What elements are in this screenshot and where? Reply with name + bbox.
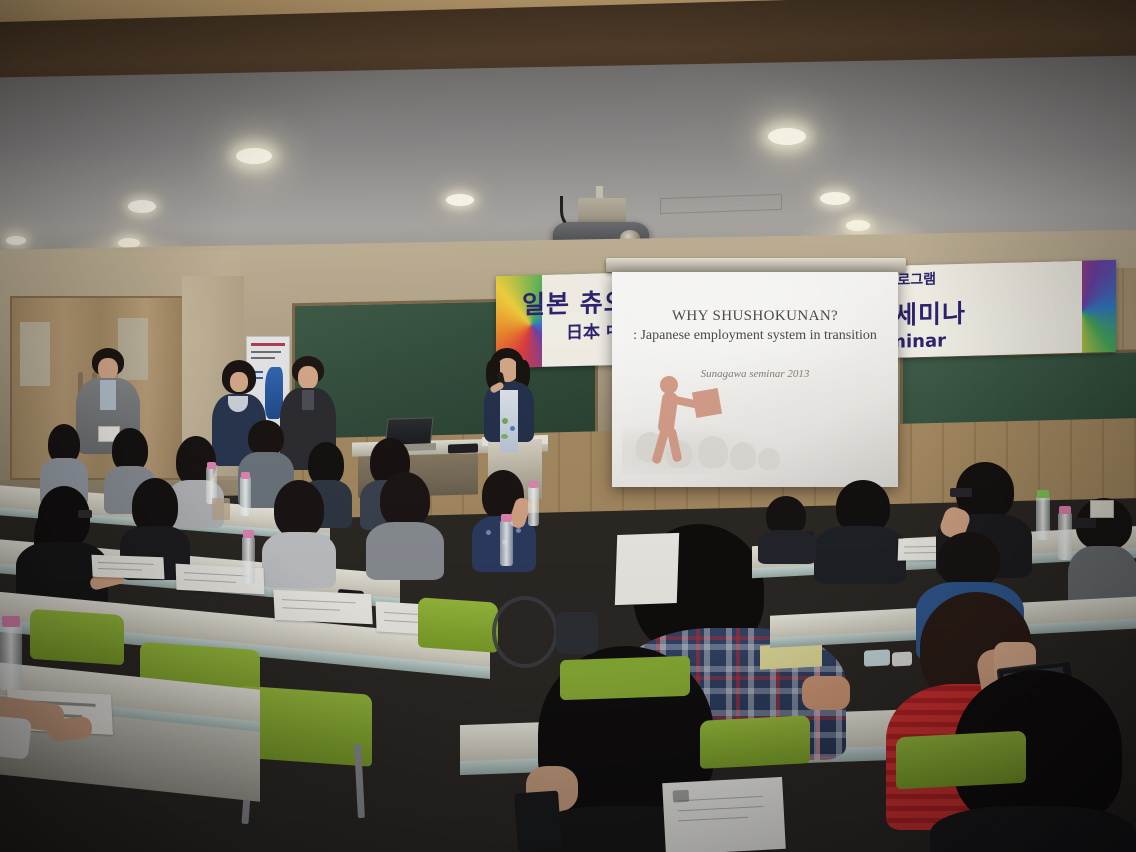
hair <box>380 472 430 528</box>
bottle-cap <box>241 472 250 479</box>
ceiling-downlight <box>820 192 850 205</box>
green-chair[interactable] <box>896 731 1026 790</box>
handout-upright[interactable] <box>615 533 679 605</box>
ceiling-downlight <box>128 200 156 213</box>
slide-title: WHY SHUSHOKUNAN? <box>612 308 898 325</box>
slide-crowd-figure <box>730 442 756 470</box>
desk-object-dark[interactable] <box>448 443 478 453</box>
wall-outlet <box>1090 500 1114 518</box>
slide-subtitle: : Japanese employment system in transiti… <box>612 328 898 344</box>
green-chair[interactable] <box>30 609 124 666</box>
sleeve <box>0 712 32 759</box>
dot-pattern <box>486 530 491 535</box>
face <box>298 366 318 389</box>
audience-person-back <box>758 496 816 556</box>
ceiling-downlight <box>446 194 474 206</box>
glasses-icon <box>950 488 972 497</box>
hair <box>248 420 284 456</box>
slide-credit: Sunagawa seminar 2013 <box>612 368 898 380</box>
dark-jacket <box>814 526 906 584</box>
dress-pattern <box>510 426 515 431</box>
torso <box>758 530 816 564</box>
water-bottle[interactable] <box>240 476 251 516</box>
dress-pattern <box>501 434 508 439</box>
audience-black-cardigan <box>16 486 108 596</box>
hair <box>274 480 324 538</box>
glasses-icon <box>78 510 92 518</box>
torso <box>262 532 336 588</box>
face <box>98 358 118 380</box>
bottle-cap-green <box>1037 490 1049 498</box>
green-chair[interactable] <box>418 597 498 653</box>
torso <box>930 806 1136 852</box>
presenter <box>480 348 542 468</box>
phone-icon[interactable] <box>514 791 562 852</box>
green-chair[interactable] <box>700 715 810 769</box>
projection-screen-housing <box>606 258 906 272</box>
green-chair[interactable] <box>560 656 690 701</box>
slide-crowd-figure <box>698 436 728 468</box>
handout[interactable] <box>273 590 372 624</box>
dot-pattern <box>516 528 521 533</box>
slide-figure-box <box>692 388 722 418</box>
shirt-placket <box>302 390 314 410</box>
slide-crowd-figure <box>758 448 780 470</box>
ceiling-downlight <box>236 148 272 164</box>
torso <box>366 522 444 580</box>
audience-dark-jacket <box>814 480 906 576</box>
bottle-cap <box>529 481 538 488</box>
bottle-cap <box>243 530 254 538</box>
door-window <box>20 322 50 386</box>
audience-person <box>262 480 336 580</box>
bottle-cap <box>501 514 512 522</box>
water-bottle[interactable] <box>1036 496 1050 540</box>
audience-person <box>366 472 444 576</box>
handout[interactable] <box>91 555 164 580</box>
water-bottle[interactable] <box>500 520 513 566</box>
bottle-cap <box>2 616 20 627</box>
water-bottle[interactable] <box>0 624 22 690</box>
wheel <box>492 596 558 668</box>
water-bottle[interactable] <box>242 536 255 584</box>
projection-screen: WHY SHUSHOKUNAN? : Japanese employment s… <box>612 272 898 487</box>
paper-cup[interactable] <box>212 498 230 520</box>
hair <box>938 532 1000 588</box>
ceiling-downlight <box>768 128 806 145</box>
bottle-cap <box>207 462 216 469</box>
bag <box>556 612 598 654</box>
ceiling-downlight <box>6 236 26 245</box>
water-bottle[interactable] <box>528 486 539 526</box>
lecture-hall-photo: 일본 츄오 日本 中 로그램 생교류 세미나 流 Seminar 호 WHY S… <box>0 0 1136 852</box>
hand <box>802 676 850 710</box>
shirt-collar <box>100 380 116 410</box>
dress-pattern <box>502 418 508 424</box>
glasses-icon <box>1072 518 1096 528</box>
face <box>230 372 248 392</box>
handout[interactable] <box>662 777 786 852</box>
